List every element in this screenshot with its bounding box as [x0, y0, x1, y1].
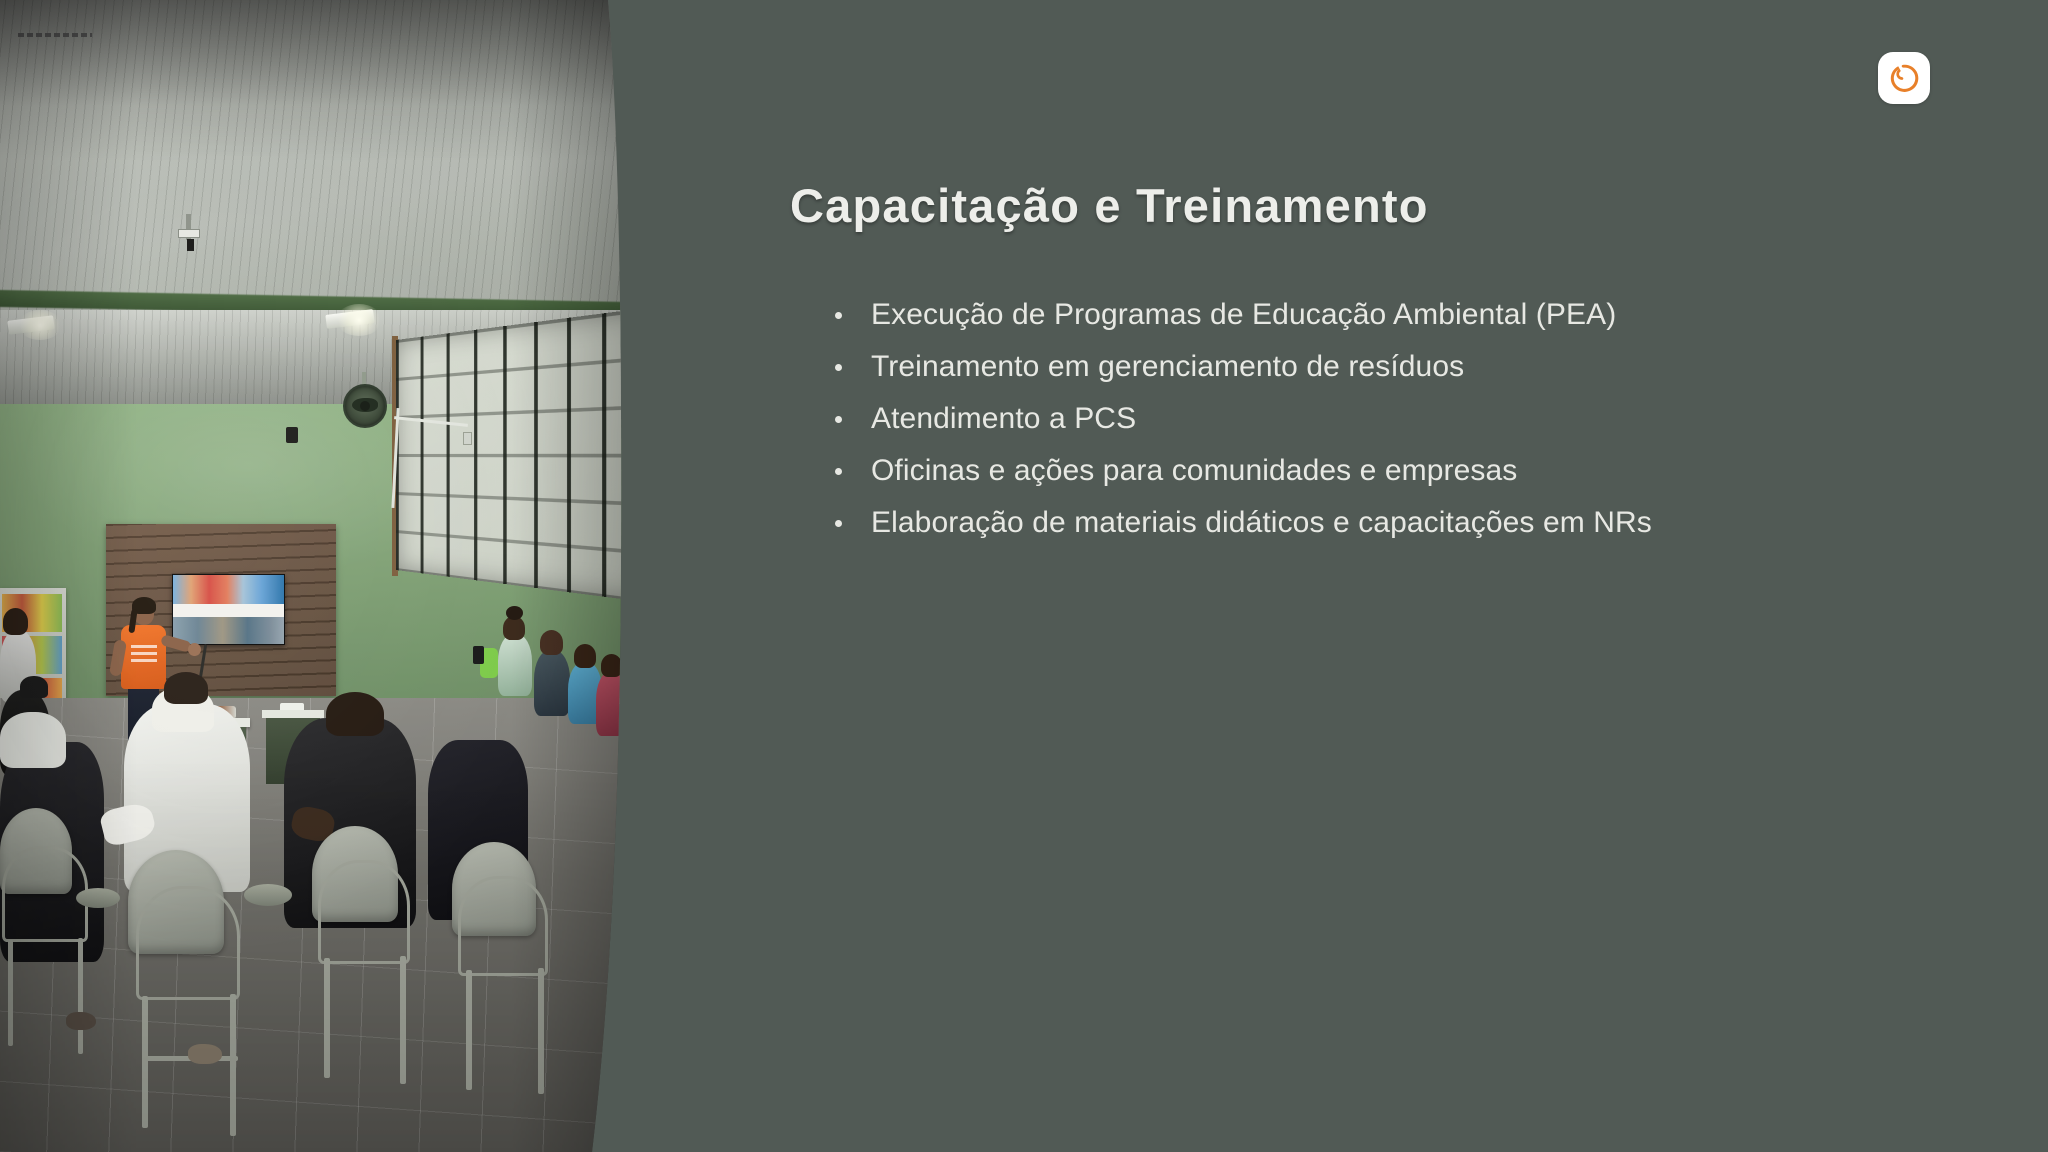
ceiling-light-glow-left	[18, 310, 62, 340]
audience-head	[3, 608, 28, 635]
chair-frame	[2, 846, 88, 942]
wall-conduit-box	[463, 432, 472, 445]
audience-head	[574, 644, 596, 668]
audience-person	[498, 634, 532, 696]
list-item: Elaboração de materiais didáticos e capa…	[832, 506, 1652, 540]
foreground-person-hair	[164, 672, 208, 704]
foreground-footwear	[188, 1044, 222, 1064]
presentation-slide: Capacitação e Treinamento Execução de Pr…	[0, 0, 2048, 1152]
chair-leg	[538, 968, 544, 1094]
ceiling-junction-box	[178, 229, 200, 238]
foreground-person-hair	[326, 692, 384, 736]
tv-slide-caption-band	[173, 604, 285, 617]
slide-content: Capacitação e Treinamento Execução de Pr…	[790, 0, 1970, 1152]
presentation-tv-screen	[172, 574, 285, 645]
list-item: Atendimento a PCS	[832, 402, 1652, 436]
workshop-photo	[0, 0, 624, 1152]
list-item: Treinamento em gerenciamento de resíduos	[832, 350, 1652, 384]
audience-head	[601, 654, 622, 677]
chair-frame	[318, 860, 410, 964]
ceiling-light-glow-right	[336, 304, 382, 336]
audience-person	[534, 650, 570, 716]
foreground-footwear	[66, 1012, 96, 1030]
orange-spiral-icon	[1887, 61, 1921, 95]
chair-tablet-arm	[76, 888, 120, 908]
logo-badge[interactable]	[1878, 52, 1930, 104]
photo-scene	[0, 0, 624, 1152]
chair-leg	[230, 994, 236, 1136]
tv-slide-bottom-image	[173, 617, 285, 645]
chair-leg	[142, 996, 148, 1128]
page-title: Capacitação e Treinamento	[790, 178, 1429, 233]
chair-leg	[466, 970, 472, 1090]
wall-switch	[286, 427, 298, 443]
chair-frame	[458, 876, 548, 976]
tv-slide-caption-text	[18, 33, 92, 37]
fan-hub	[360, 401, 370, 411]
ceiling-stud	[187, 239, 194, 251]
chair-leg	[8, 940, 13, 1046]
chair-leg	[78, 938, 83, 1054]
list-item: Execução de Programas de Educação Ambien…	[832, 298, 1652, 332]
bullet-list: Execução de Programas de Educação Ambien…	[832, 298, 1652, 558]
chair-leg	[400, 956, 406, 1084]
barred-window	[396, 305, 624, 605]
side-desk-top	[262, 710, 324, 718]
list-item: Oficinas e ações para comunidades e empr…	[832, 454, 1652, 488]
foreground-person-white-hood	[0, 712, 66, 768]
audience-hair-bun	[506, 606, 523, 620]
chair-tablet-arm	[244, 884, 292, 906]
chair-frame	[136, 886, 240, 1000]
presenter-hand	[188, 643, 201, 656]
tv-slide-top-images	[173, 575, 285, 604]
audience-person	[596, 672, 624, 736]
ceiling	[0, 0, 624, 312]
audience-head	[540, 630, 563, 655]
presenter-shirt-print	[131, 645, 157, 665]
audience-phone	[473, 646, 484, 664]
audience-cap	[20, 676, 48, 698]
chair-leg	[324, 958, 330, 1078]
